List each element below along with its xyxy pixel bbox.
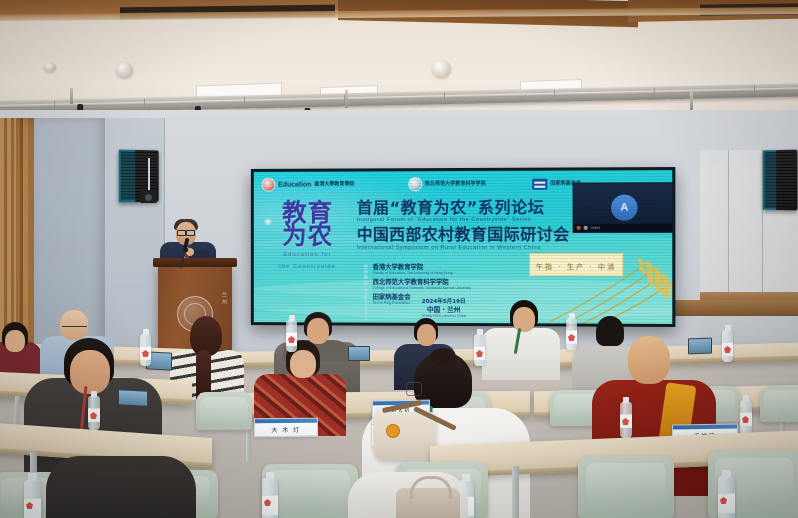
truss-brace [754,85,755,96]
water-bottle[interactable] [140,334,151,366]
person-body [482,328,560,380]
podium-top-surface [153,258,237,267]
water-bottle[interactable] [566,318,577,350]
organizer-cn: 西北师范大学教育科学学院 [373,278,471,286]
person-head [70,350,110,394]
event-place-cn: 中国 · 兰州 [421,306,466,314]
person-hair [596,316,624,346]
organizer-en: College of Educational Sciences, Northwe… [373,286,471,292]
hku-logo-word: Education [278,181,311,188]
person-head [417,324,436,346]
organizer-en: Faculty of Education, The University of … [373,271,471,277]
mute-indicator-icon [577,226,581,230]
glow-dot-decor [264,217,273,226]
kv-en-line1: Education for [266,252,350,259]
wall-seam [104,118,105,356]
wood-slat-wall-edge [0,118,16,348]
bag-badge-icon [386,424,400,438]
person-head [307,318,329,344]
water-bottle[interactable] [262,478,278,518]
chair[interactable] [196,392,252,430]
laptop[interactable] [688,338,712,355]
name-card-text: 大 木 灯 [255,423,317,437]
led-screen-content: Education 香港大學教育學院 西北师范大学教育科学学院 田家炳基金会 教… [254,170,672,324]
video-conference-tile[interactable]: A muted [573,182,673,233]
smoke-detector-icon [116,62,133,78]
conference-hall-photo: Education 香港大學教育學院 西北师范大学教育科学学院 田家炳基金会 教… [0,0,798,518]
truss-brace [654,88,655,99]
water-bottle[interactable] [722,330,733,362]
laptop[interactable] [118,389,148,407]
camera-lens-icon [145,194,152,201]
tkp-mark-icon [532,178,547,189]
water-bottle[interactable] [620,402,632,438]
person-hair-bun [430,348,456,366]
smoke-detector-icon [432,60,451,78]
truss-dropper [690,92,693,110]
video-tile-status-label: muted [591,226,600,230]
truss-dropper [70,88,73,104]
led-video-wall[interactable]: Education 香港大學教育學院 西北师范大学教育科学学院 田家炳基金会 教… [251,167,675,327]
wheat-stalks-icon [546,251,672,324]
person-head [513,307,535,332]
organizers-label: 主办单位 Organizers [364,263,369,321]
name-card-center: 大 木 灯 [254,418,318,438]
nwnu-logo-cn: 西北师范大学教育科学学院 [425,181,486,186]
camera-mount-pole [148,158,150,194]
truss-brace [144,99,145,110]
water-bottle[interactable] [718,476,735,518]
hku-logo-cn: 香港大學教育學院 [314,182,354,187]
chair-near-right-1[interactable] [578,456,674,518]
video-tile-statusbar: muted [574,224,673,232]
person-head [290,350,316,378]
person-head [628,336,670,384]
tote-bag[interactable] [374,412,436,460]
speaker-glasses-icon [177,230,195,234]
person-glasses-icon [62,326,87,332]
person-head [60,310,88,340]
event-date-block: 2024年5月19日 中国 · 兰州 19 May 2024, Lanzhou,… [421,299,466,319]
laptop[interactable] [348,346,370,361]
podium-side-text: 兰州 [221,292,228,306]
nwnu-logo: 西北师范大学教育科学学院 [408,177,486,191]
hku-logo: Education 香港大學教育學院 [262,177,355,191]
truss-brace [554,90,555,101]
camera-indicator-icon [584,226,588,230]
wall-speaker-right [763,150,798,211]
kv-cn-line2: 为农 [266,224,350,247]
water-bottle[interactable] [24,480,41,518]
nwnu-crest-icon [408,177,422,191]
chair[interactable] [760,386,798,422]
truss-dropper [345,90,348,108]
organizer-cn: 香港大学教育学院 [373,263,471,271]
water-bottle[interactable] [88,396,100,430]
kv-en-line2: the Countryside [266,264,350,271]
water-bottle[interactable] [286,320,297,352]
key-visual-block: 教育 为农 Education for the Countryside [266,201,350,271]
participant-avatar: A [611,194,637,220]
handbag-handle [410,476,452,499]
person-head [5,330,25,352]
water-bottle[interactable] [474,334,485,366]
truss-brace [444,92,445,103]
truss-brace [244,97,245,108]
water-bottle[interactable] [740,400,752,434]
hku-crest-icon [262,178,276,192]
wall-seam [728,150,729,306]
person-body [46,456,196,518]
table-leg [512,466,519,518]
smoke-detector-icon [44,62,56,72]
person-glasses-icon [406,382,422,396]
